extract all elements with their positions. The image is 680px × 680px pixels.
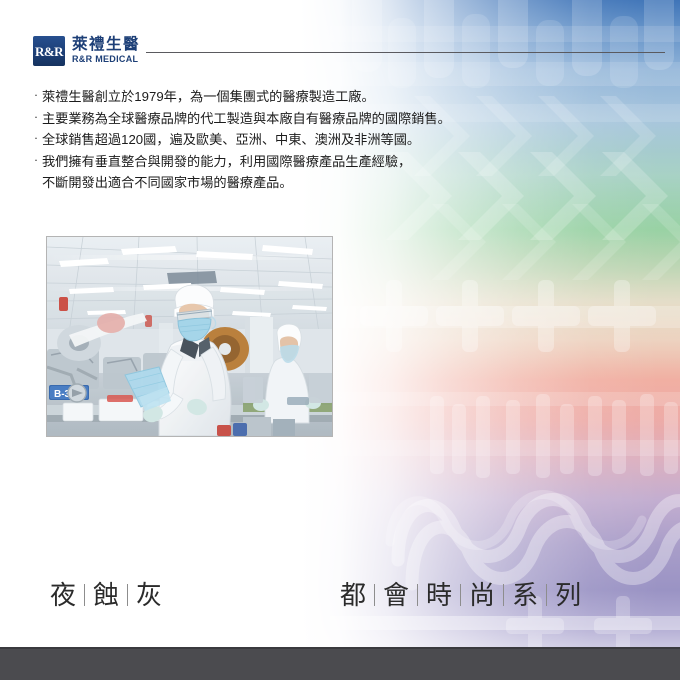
caption-char: 系 bbox=[511, 580, 539, 610]
logo-wordmark: 萊禮生醫 R&R MEDICAL bbox=[72, 36, 140, 65]
caption-char: 灰 bbox=[135, 580, 163, 610]
caption-separator bbox=[503, 584, 504, 606]
caption-product-color: 夜 蝕 灰 bbox=[49, 580, 163, 610]
caption-char: 夜 bbox=[49, 580, 77, 610]
bullet-text: 全球銷售超過120國，遍及歐美、亞洲、中東、澳洲及非洲等國。 bbox=[42, 129, 630, 151]
caption-separator bbox=[460, 584, 461, 606]
caption-product-series: 都 會 時 尚 系 列 bbox=[339, 580, 582, 610]
bullet-dot-icon: ‧ bbox=[30, 151, 42, 173]
bullet-text-continuation: 不斷開發出適合不同國家市場的醫療產品。 bbox=[30, 172, 630, 194]
caption-char: 會 bbox=[382, 580, 410, 610]
logo-monogram: R&R bbox=[35, 45, 63, 58]
bullet-item: ‧ 我們擁有垂直整合與開發的能力，利用國際醫療產品生產經驗， bbox=[30, 151, 630, 173]
caption-char: 都 bbox=[339, 580, 367, 610]
caption-separator bbox=[84, 584, 85, 606]
bullet-dot-icon: ‧ bbox=[30, 108, 42, 130]
bullet-text: 萊禮生醫創立於1979年，為一個集團式的醫療製造工廠。 bbox=[42, 86, 630, 108]
bullet-item: ‧ 萊禮生醫創立於1979年，為一個集團式的醫療製造工廠。 bbox=[30, 86, 630, 108]
caption-char: 列 bbox=[554, 580, 582, 610]
factory-photo-image: B-3 bbox=[47, 237, 332, 436]
bullet-text: 我們擁有垂直整合與開發的能力，利用國際醫療產品生產經驗， bbox=[42, 151, 630, 173]
bullet-dot-icon: ‧ bbox=[30, 86, 42, 108]
caption-char: 尚 bbox=[468, 580, 496, 610]
caption-char: 蝕 bbox=[92, 580, 120, 610]
caption-separator bbox=[417, 584, 418, 606]
caption-char: 時 bbox=[425, 580, 453, 610]
caption-separator bbox=[374, 584, 375, 606]
header-divider-rule bbox=[146, 52, 665, 53]
caption-separator bbox=[127, 584, 128, 606]
caption-separator bbox=[546, 584, 547, 606]
logo-name-chinese: 萊禮生醫 bbox=[72, 36, 140, 53]
logo-name-english: R&R MEDICAL bbox=[72, 54, 140, 65]
bullet-item: ‧ 主要業務為全球醫療品牌的代工製造與本廠自有醫療品牌的國際銷售。 bbox=[30, 108, 630, 130]
slide-header: R&R 萊禮生醫 R&R MEDICAL bbox=[33, 36, 665, 72]
bullet-text: 主要業務為全球醫療品牌的代工製造與本廠自有醫療品牌的國際銷售。 bbox=[42, 108, 630, 130]
bullet-item: ‧ 全球銷售超過120國，遍及歐美、亞洲、中東、澳洲及非洲等國。 bbox=[30, 129, 630, 151]
slide-canvas: R&R 萊禮生醫 R&R MEDICAL ‧ 萊禮生醫創立於1979年，為一個集… bbox=[0, 0, 680, 680]
bullet-dot-icon: ‧ bbox=[30, 129, 42, 151]
rr-logo-icon: R&R bbox=[33, 36, 65, 66]
company-bullet-list: ‧ 萊禮生醫創立於1979年，為一個集團式的醫療製造工廠。 ‧ 主要業務為全球醫… bbox=[30, 86, 630, 194]
footer-band bbox=[0, 647, 680, 680]
factory-photo: B-3 bbox=[46, 236, 333, 437]
